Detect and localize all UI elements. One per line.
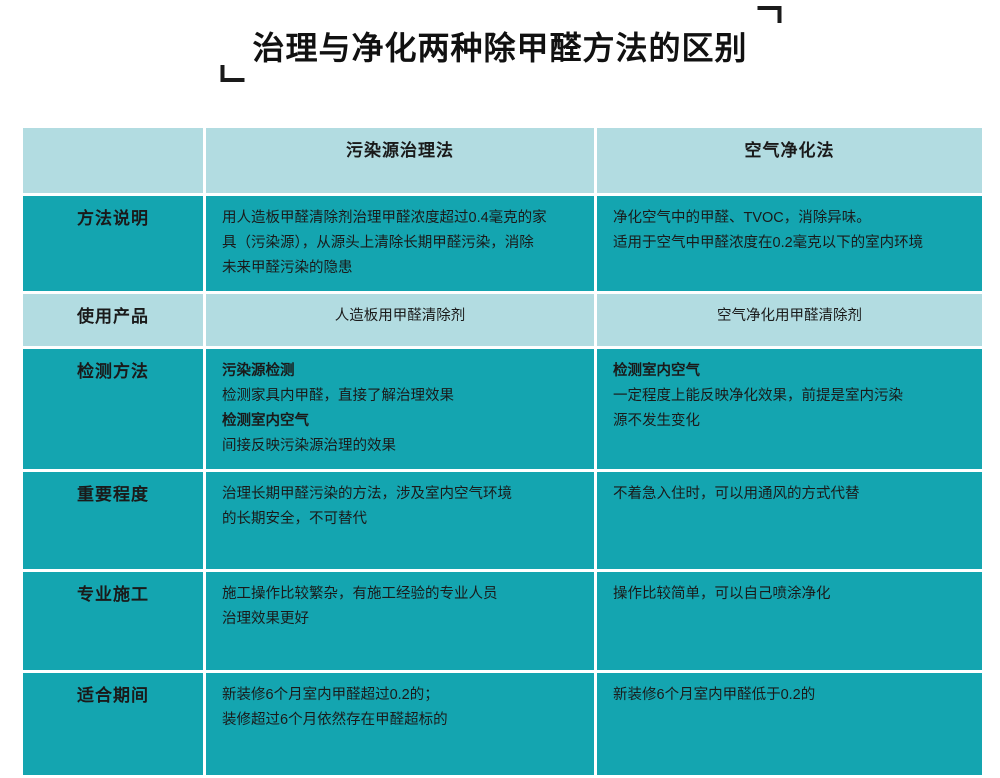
row-cell-purify: 空气净化用甲醛清除剂 — [597, 294, 982, 346]
cell-subhead: 检测室内空气 — [613, 359, 966, 384]
row-label-method-description: 方法说明 — [23, 196, 203, 291]
row-cell-source: 人造板用甲醛清除剂 — [206, 294, 594, 346]
cell-line: 施工操作比较繁杂，有施工经验的专业人员 — [222, 582, 578, 607]
cell-line: 间接反映污染源治理的效果 — [222, 434, 578, 459]
cell-method-description-source: 用人造板甲醛清除剂治理甲醛浓度超过0.4毫克的家 具（污染源），从源头上清除长期… — [206, 196, 594, 291]
cell-line: 治理效果更好 — [222, 607, 578, 632]
header-blank-label — [23, 128, 203, 193]
cell-subhead: 检测室内空气 — [222, 409, 578, 434]
row-cell-purify: 检测室内空气 一定程度上能反映净化效果，前提是室内污染 源不发生变化 — [597, 349, 982, 469]
cell-line: 新装修6个月室内甲醛超过0.2的； — [222, 683, 578, 708]
header-label-source-treatment: 污染源治理法 — [206, 128, 594, 193]
title-inner: 治理与净化两种除甲醛方法的区别 — [226, 26, 773, 70]
row-label-cell: 专业施工 — [23, 572, 203, 670]
row-cell-source: 用人造板甲醛清除剂治理甲醛浓度超过0.4毫克的家 具（污染源），从源头上清除长期… — [206, 196, 594, 291]
row-label-cell: 方法说明 — [23, 196, 203, 291]
page-title: 治理与净化两种除甲醛方法的区别 — [226, 26, 773, 70]
cell-product-used-purify: 空气净化用甲醛清除剂 — [597, 294, 982, 346]
row-cell-purify: 净化空气中的甲醛、TVOC，消除异味。 适用于空气中甲醛浓度在0.2毫克以下的室… — [597, 196, 982, 291]
cell-line: 未来甲醛污染的隐患 — [222, 256, 578, 281]
table-row: 使用产品 人造板用甲醛清除剂 空气净化用甲醛清除剂 — [23, 294, 982, 346]
cell-importance-purify: 不着急入住时，可以用通风的方式代替 — [597, 472, 982, 569]
row-cell-source: 污染源检测 检测家具内甲醛，直接了解治理效果 检测室内空气 间接反映污染源治理的… — [206, 349, 594, 469]
cell-line: 一定程度上能反映净化效果，前提是室内污染 — [613, 384, 966, 409]
cell-subhead: 污染源检测 — [222, 359, 578, 384]
cell-line: 装修超过6个月依然存在甲醛超标的 — [222, 708, 578, 733]
cell-line: 净化空气中的甲醛、TVOC，消除异味。 — [613, 206, 966, 231]
title-section: 治理与净化两种除甲醛方法的区别 — [0, 0, 1000, 115]
cell-professional-construction-source: 施工操作比较繁杂，有施工经验的专业人员 治理效果更好 — [206, 572, 594, 670]
table-header-row: 污染源治理法 空气净化法 — [23, 128, 982, 193]
cell-line: 检测家具内甲醛，直接了解治理效果 — [222, 384, 578, 409]
cell-line: 不着急入住时，可以用通风的方式代替 — [613, 482, 966, 507]
cell-line: 的长期安全，不可替代 — [222, 507, 578, 532]
cell-line: 用人造板甲醛清除剂治理甲醛浓度超过0.4毫克的家 — [222, 206, 578, 231]
header-cell-purify: 空气净化法 — [597, 128, 982, 193]
cell-line: 源不发生变化 — [613, 409, 966, 434]
cell-product-used-source: 人造板用甲醛清除剂 — [206, 294, 594, 346]
cell-detection-method-source: 污染源检测 检测家具内甲醛，直接了解治理效果 检测室内空气 间接反映污染源治理的… — [206, 349, 594, 469]
row-label-importance: 重要程度 — [23, 472, 203, 569]
table-row: 方法说明 用人造板甲醛清除剂治理甲醛浓度超过0.4毫克的家 具（污染源），从源头… — [23, 196, 982, 291]
row-cell-source: 治理长期甲醛污染的方法，涉及室内空气环境 的长期安全，不可替代 — [206, 472, 594, 569]
row-label-professional-construction: 专业施工 — [23, 572, 203, 670]
row-label-cell: 使用产品 — [23, 294, 203, 346]
cell-line: 新装修6个月室内甲醛低于0.2的 — [613, 683, 966, 708]
cell-line: 治理长期甲醛污染的方法，涉及室内空气环境 — [222, 482, 578, 507]
table-row: 专业施工 施工操作比较繁杂，有施工经验的专业人员 治理效果更好 操作比较简单，可… — [23, 572, 982, 670]
header-cell-blank — [23, 128, 203, 193]
cell-line: 具（污染源），从源头上清除长期甲醛污染，消除 — [222, 231, 578, 256]
row-cell-purify: 不着急入住时，可以用通风的方式代替 — [597, 472, 982, 569]
header-cell-source: 污染源治理法 — [206, 128, 594, 193]
cell-detection-method-purify: 检测室内空气 一定程度上能反映净化效果，前提是室内污染 源不发生变化 — [597, 349, 982, 469]
cell-line: 操作比较简单，可以自己喷涂净化 — [613, 582, 966, 607]
row-label-product-used: 使用产品 — [23, 294, 203, 346]
row-label-cell: 重要程度 — [23, 472, 203, 569]
table-row: 重要程度 治理长期甲醛污染的方法，涉及室内空气环境 的长期安全，不可替代 不着急… — [23, 472, 982, 569]
cell-professional-construction-purify: 操作比较简单，可以自己喷涂净化 — [597, 572, 982, 670]
row-label-cell: 检测方法 — [23, 349, 203, 469]
row-cell-source: 施工操作比较繁杂，有施工经验的专业人员 治理效果更好 — [206, 572, 594, 670]
comparison-table: 污染源治理法 空气净化法 方法说明 用人造板甲醛清除剂治理甲醛浓度超过0.4毫克… — [20, 125, 985, 778]
bracket-top-right-icon — [758, 6, 782, 23]
bracket-bottom-left-icon — [220, 65, 244, 82]
cell-method-description-purify: 净化空气中的甲醛、TVOC，消除异味。 适用于空气中甲醛浓度在0.2毫克以下的室… — [597, 196, 982, 291]
table-row: 检测方法 污染源检测 检测家具内甲醛，直接了解治理效果 检测室内空气 间接反映污… — [23, 349, 982, 469]
row-label-detection-method: 检测方法 — [23, 349, 203, 469]
row-cell-purify: 操作比较简单，可以自己喷涂净化 — [597, 572, 982, 670]
cell-line: 适用于空气中甲醛浓度在0.2毫克以下的室内环境 — [613, 231, 966, 256]
cell-importance-source: 治理长期甲醛污染的方法，涉及室内空气环境 的长期安全，不可替代 — [206, 472, 594, 569]
header-label-air-purification: 空气净化法 — [597, 128, 982, 193]
